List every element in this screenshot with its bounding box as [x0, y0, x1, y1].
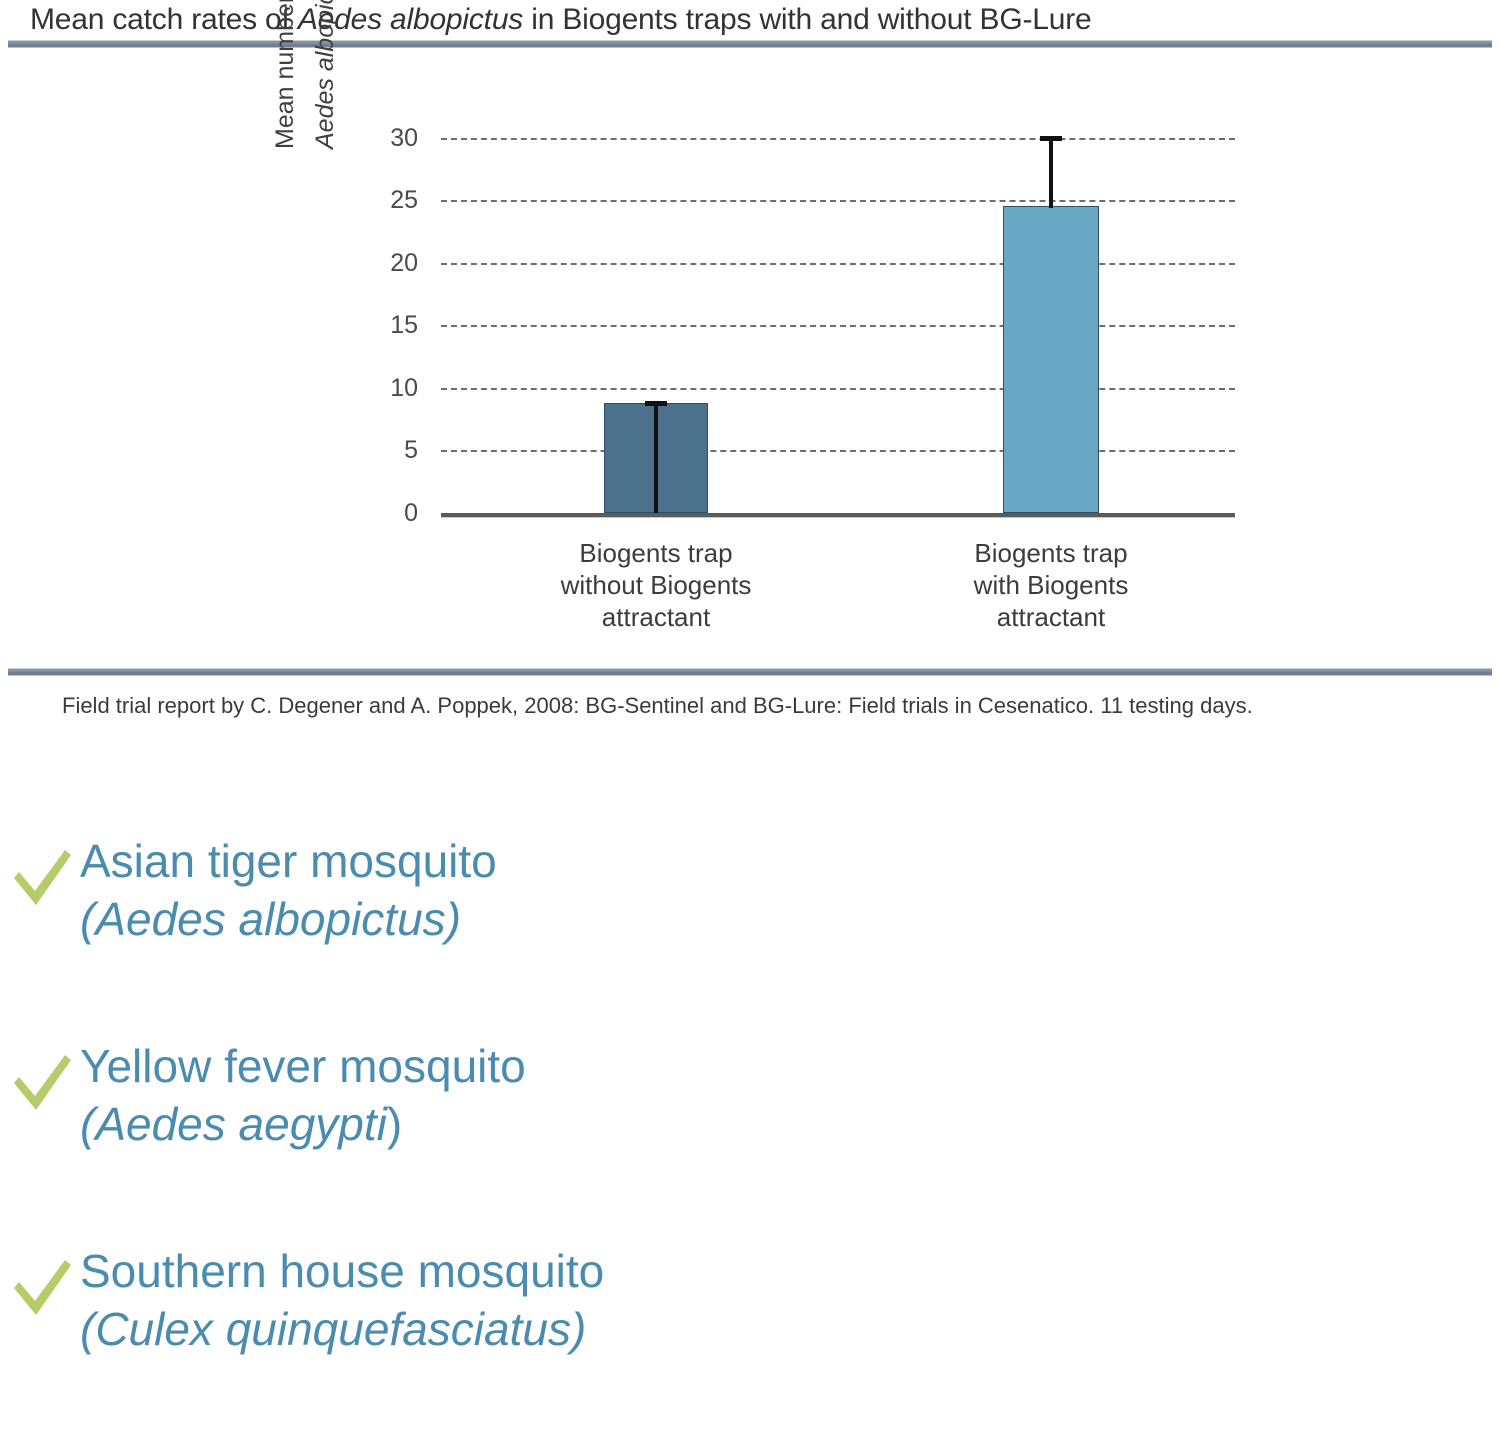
errorbar-cap-without-attractant [645, 401, 667, 406]
page-title-prefix: Mean catch rates of [30, 3, 298, 36]
y-axis-title-line1: Mean number of caught female [271, 0, 300, 149]
species-latin: Aedes aegypti [95, 1098, 387, 1150]
gridline-30 [441, 138, 1235, 140]
y-tick-5: 5 [358, 438, 418, 463]
divider-top [8, 40, 1492, 48]
check-icon [10, 846, 72, 912]
errorbar-stem-without-attractant [654, 403, 658, 513]
gridline-25 [441, 200, 1235, 202]
page-title: Mean catch rates of Aedes albopictus in … [30, 3, 1091, 37]
x-label-with-attractant-line1: Biogents trap [886, 538, 1216, 570]
species-scientific-name: (Aedes aegypti) [80, 1095, 526, 1153]
y-tick-0: 0 [358, 501, 418, 526]
species-open-paren: ( [80, 1098, 95, 1150]
species-close-paren: ) [571, 1303, 586, 1355]
source-caption: Field trial report by C. Degener and A. … [62, 693, 1253, 719]
list-item: Southern house mosquito (Culex quinquefa… [0, 1250, 1500, 1455]
errorbar-stem-with-attractant [1049, 138, 1053, 208]
x-axis-line [441, 513, 1235, 518]
list-item: Asian tiger mosquito (Aedes albopictus) [0, 840, 1500, 1045]
x-label-with-attractant-line3: attractant [886, 602, 1216, 634]
divider-bottom [8, 668, 1492, 676]
species-common-name: Asian tiger mosquito [80, 832, 497, 890]
check-icon [10, 1256, 72, 1322]
y-tick-30: 30 [358, 126, 418, 151]
gridline-5 [441, 450, 1235, 452]
y-tick-25: 25 [358, 188, 418, 213]
x-label-with-attractant-line2: with Biogents [886, 570, 1216, 602]
species-open-paren: ( [80, 1303, 95, 1355]
x-label-without-attractant-line1: Biogents trap [491, 538, 821, 570]
species-close-paren: ) [446, 893, 461, 945]
species-common-name: Yellow fever mosquito [80, 1037, 526, 1095]
species-common-name: Southern house mosquito [80, 1242, 604, 1300]
species-latin: Aedes albopictus [95, 893, 445, 945]
x-label-without-attractant-line2: without Biogents [491, 570, 821, 602]
y-axis-title-line2: Aedes albopictus per 24h [311, 0, 340, 149]
gridline-10 [441, 388, 1235, 390]
species-scientific-name: (Aedes albopictus) [80, 890, 497, 948]
plot-area: Biogents trap without Biogents attractan… [441, 60, 1235, 530]
title-bar: Mean catch rates of Aedes albopictus in … [0, 0, 1500, 40]
species-checklist: Asian tiger mosquito (Aedes albopictus) … [0, 840, 1500, 1455]
gridline-20 [441, 263, 1235, 265]
y-tick-10: 10 [358, 376, 418, 401]
list-item-text: Southern house mosquito (Culex quinquefa… [80, 1242, 604, 1359]
errorbar-cap-with-attractant [1040, 136, 1062, 141]
species-latin: Culex quinquefasciatus [95, 1303, 571, 1355]
x-label-without-attractant: Biogents trap without Biogents attractan… [491, 538, 821, 634]
y-tick-20: 20 [358, 251, 418, 276]
list-item: Yellow fever mosquito (Aedes aegypti) [0, 1045, 1500, 1250]
bar-chart: Mean number of caught female Aedes albop… [0, 60, 1500, 660]
y-tick-15: 15 [358, 313, 418, 338]
species-close-paren: ) [387, 1098, 402, 1150]
check-icon [10, 1051, 72, 1117]
y-axis-ticks: 30 25 20 15 10 5 0 [348, 60, 418, 530]
list-item-text: Asian tiger mosquito (Aedes albopictus) [80, 832, 497, 949]
x-label-with-attractant: Biogents trap with Biogents attractant [886, 538, 1216, 634]
x-label-without-attractant-line3: attractant [491, 602, 821, 634]
species-open-paren: ( [80, 893, 95, 945]
bar-with-attractant[interactable] [1003, 206, 1099, 513]
list-item-text: Yellow fever mosquito (Aedes aegypti) [80, 1037, 526, 1154]
y-axis-title-species: Aedes albopictus [311, 0, 339, 149]
species-scientific-name: (Culex quinquefasciatus) [80, 1300, 604, 1358]
gridline-15 [441, 325, 1235, 327]
y-axis-title: Mean number of caught female Aedes albop… [0, 60, 90, 560]
page-title-suffix: in Biogents traps with and without BG-Lu… [523, 3, 1091, 36]
